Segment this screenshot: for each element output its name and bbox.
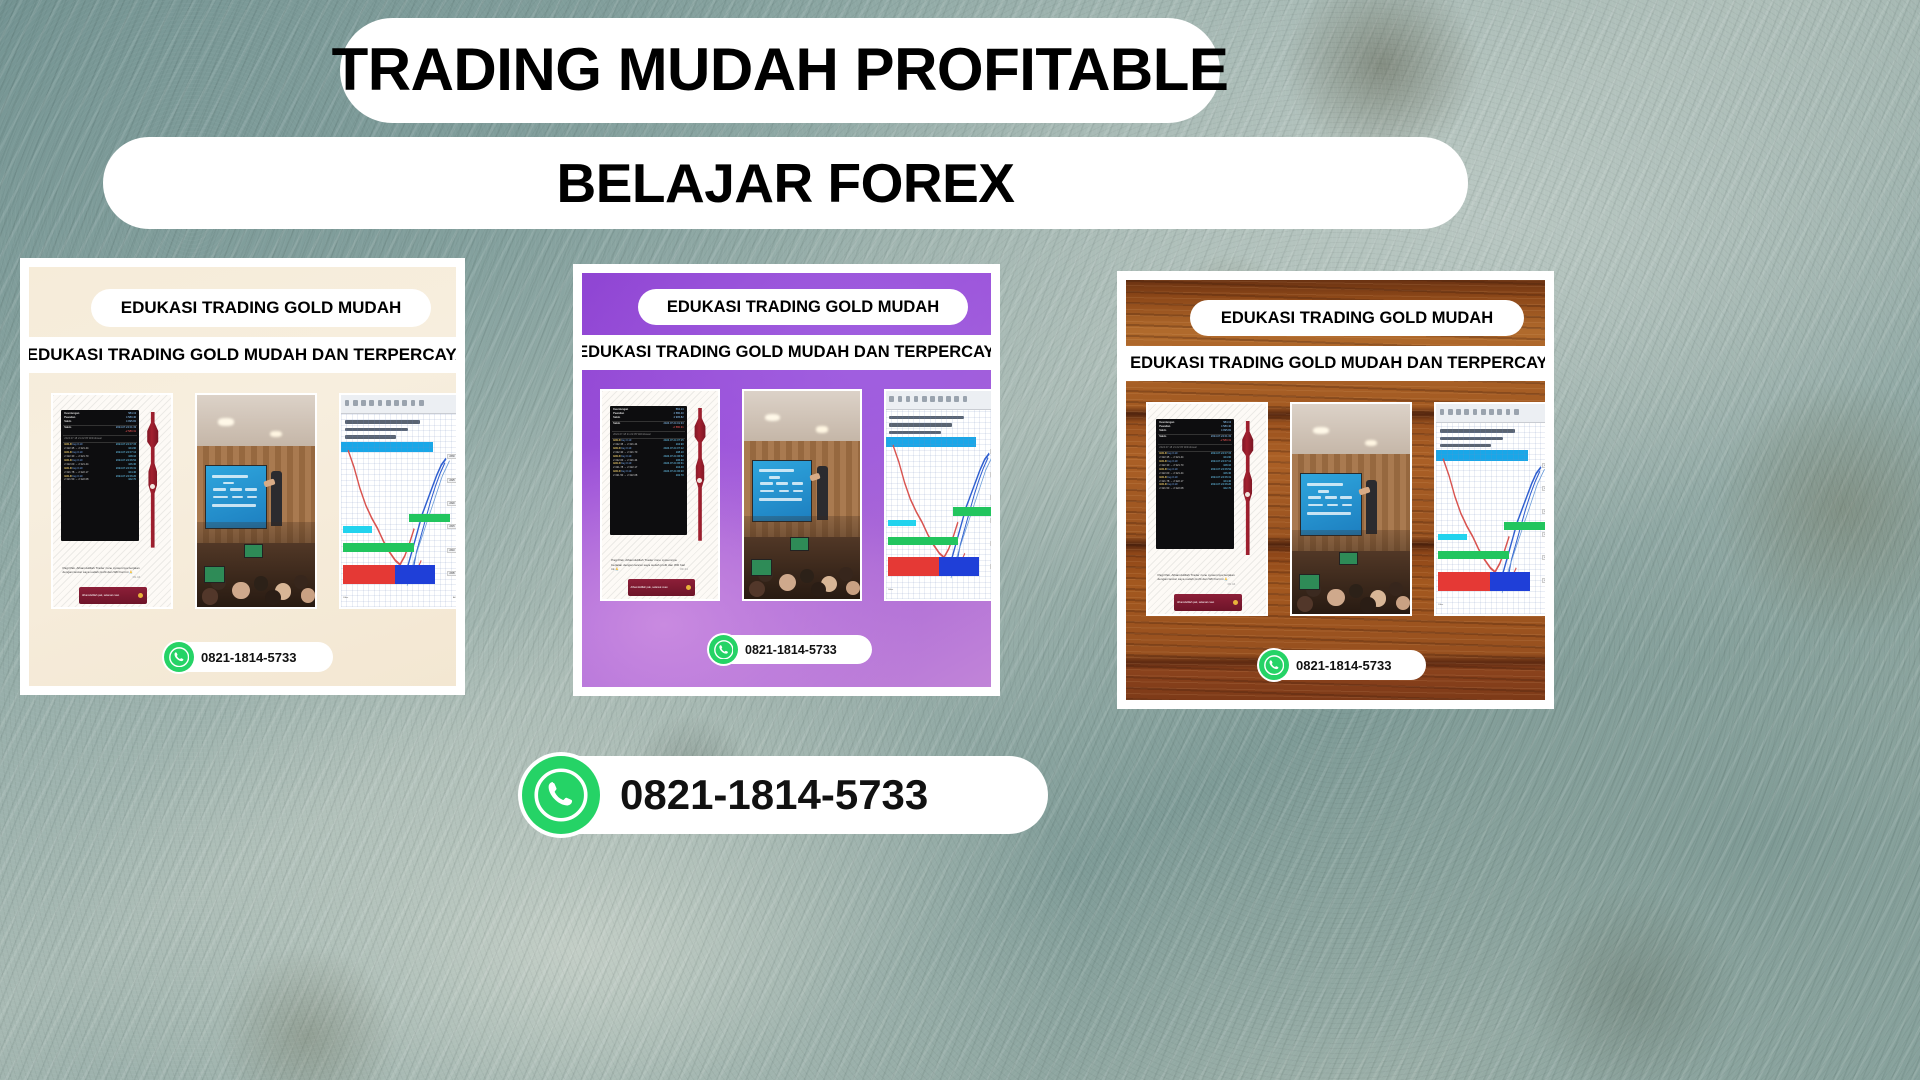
chart-axis-label: 2305 [447, 571, 456, 576]
chart-volume-blue [395, 565, 435, 584]
card-screenshot-strip: Keuntungan584.13Pewalian4 580.40Saldo4 9… [1146, 402, 1545, 616]
terminal-trade-row: GOLD buy 0.102024.07.24 06:522 322.00 → … [63, 459, 137, 467]
chart-axis-label: 2330 [447, 454, 456, 459]
chart-footer-left: Filter [888, 589, 893, 591]
whatsapp-icon [164, 642, 194, 672]
card-screenshot-strip: Keuntungan584.13Pewalian4 580.40Saldo4 9… [51, 393, 456, 609]
chart-axis-label: 2310 [447, 548, 456, 553]
trading-chart-screenshot-frame: 233023252320231523102305FilterAll [339, 393, 456, 609]
mt4-terminal-screenshot: Keuntungan584.13Pewalian4 580.40Saldo4 9… [1148, 404, 1266, 614]
terminal-trade-row: GOLD buy 0.102024.07.24 06:522 322.00 → … [1158, 468, 1232, 476]
card-heading-secondary: EDUKASI TRADING GOLD MUDAH DAN TERPERCAY… [582, 335, 991, 370]
terminal-row-value: 4 995.82 [674, 416, 684, 420]
terminal-row-value: 4 995.82 [126, 420, 136, 424]
chat-bubble: Alhamdulillah pak, selamat cuan [628, 579, 695, 596]
whatsapp-contact-badge[interactable]: 0821-1814-5733 [528, 756, 1048, 834]
card-heading-primary: EDUKASI TRADING GOLD MUDAH [1190, 300, 1524, 336]
ceiling-light-icon [1365, 440, 1377, 446]
chart-volume-red [343, 565, 395, 584]
chat-bubble: Alhamdulillah pak, selamat cuan [79, 587, 147, 604]
card-canvas: EDUKASI TRADING GOLD MUDAHEDUKASI TRADIN… [582, 273, 991, 687]
terminal-trade-row: GOLD buy 0.102024.07.24 06:202 321.50 → … [1158, 483, 1232, 491]
trading-chart-screenshot: 233023252320231523102305FilterAll [1436, 404, 1545, 614]
chart-footer-left: Filter [1438, 604, 1443, 606]
ceiling-light-icon [270, 431, 282, 437]
chart-axis-label: 2330 [1542, 463, 1545, 468]
card-whatsapp-badge[interactable]: 0821-1814-5733 [712, 635, 872, 664]
chart-volume-blue [1490, 572, 1530, 591]
trading-chart-screenshot: 233023252320231523102305FilterAll [341, 395, 456, 607]
chart-volume-red [888, 557, 939, 576]
audience-area [1292, 530, 1410, 614]
whatsapp-phone-number: 0821-1814-5733 [620, 771, 928, 819]
terminal-testimonial-text: Pagi Pak, Alhamdulillah Trader zone syst… [611, 558, 688, 572]
chart-level-marker [888, 537, 958, 545]
terminal-trade-row: GOLD buy 0.102024.07.24 07:122 322.30 → … [612, 447, 685, 455]
headline-primary-banner: TRADING MUDAH PROFITABLE [340, 18, 1220, 123]
terminal-row-label: Saldo [1159, 429, 1166, 433]
chart-level-marker [1438, 534, 1466, 540]
chart-profit-zone [409, 514, 449, 522]
chart-axis-label: 2315 [447, 524, 456, 529]
ceiling-light-icon [1313, 427, 1328, 434]
coin-icon [1233, 600, 1238, 605]
chat-bubble: Alhamdulillah pak, selamat cuan [1174, 594, 1242, 611]
card-phone-number: 0821-1814-5733 [1296, 658, 1391, 673]
terminal-trade-row: GOLD buy 0.102024.07.24 06:202 321.50 → … [63, 475, 137, 483]
chart-axis-label: 2320 [447, 501, 456, 506]
mt4-terminal-screenshot: Keuntungan584.13Pewalian4 580.40Saldo4 9… [602, 391, 718, 599]
card-screenshot-strip: Keuntungan584.13Pewalian4 580.40Saldo4 9… [600, 389, 991, 601]
terminal-panel: Keuntungan584.13Pewalian4 580.40Saldo4 9… [61, 410, 139, 541]
chart-axis-label: 2325 [990, 472, 991, 477]
terminal-trade-row: GOLD buy 0.102024.07.24 07:122 322.30 → … [63, 451, 137, 459]
mt4-terminal-screenshot-frame: Keuntungan584.13Pewalian4 580.40Saldo4 9… [600, 389, 720, 601]
chart-volume-blue [939, 557, 978, 576]
chart-axis-label: 2315 [1542, 532, 1545, 537]
terminal-trade-row: GOLD buy 0.102024.07.24 06:202 321.50 → … [612, 470, 685, 478]
chart-profit-zone [953, 507, 991, 515]
chart-axis-label: 2315 [990, 518, 991, 523]
trading-chart-screenshot-frame: 233023252320231523102305FilterAll [1434, 402, 1545, 616]
terminal-testimonial-text: Pagi Pak, Alhamdulillah Trader zone syst… [62, 566, 140, 580]
ceiling [197, 395, 315, 450]
ceiling-light-icon [765, 414, 780, 421]
terminal-panel: Keuntungan584.13Pewalian4 580.40Saldo4 9… [610, 406, 687, 535]
headline-secondary-banner: BELAJAR FOREX [103, 137, 1468, 229]
promo-card-purple[interactable]: EDUKASI TRADING GOLD MUDAHEDUKASI TRADIN… [573, 264, 1000, 696]
card-phone-number: 0821-1814-5733 [745, 643, 837, 657]
whatsapp-icon [1259, 650, 1289, 680]
coin-icon [686, 585, 691, 590]
whatsapp-icon [522, 756, 600, 834]
terminal-row-value: 4 995.82 [1221, 429, 1231, 433]
projector-screen [1300, 473, 1361, 536]
card-canvas: EDUKASI TRADING GOLD MUDAHEDUKASI TRADIN… [1126, 280, 1545, 700]
chart-axis-label: 2320 [1542, 509, 1545, 514]
terminal-testimonial-text: Pagi Pak, Alhamdulillah Trader zone syst… [1157, 573, 1235, 587]
promo-card-wood[interactable]: EDUKASI TRADING GOLD MUDAHEDUKASI TRADIN… [1117, 271, 1554, 709]
seminar-photo-frame [1290, 402, 1412, 616]
terminal-trade-row: GOLD buy 0.102024.07.24 06:312 321.78 → … [63, 467, 137, 475]
audience-area [197, 522, 315, 607]
chart-volume-red [1438, 572, 1490, 591]
card-whatsapp-badge[interactable]: 0821-1814-5733 [1262, 650, 1426, 680]
ceiling [744, 391, 860, 445]
card-heading-secondary: EDUKASI TRADING GOLD MUDAH DAN TERPERCAY… [29, 337, 456, 373]
mt4-terminal-screenshot: Keuntungan584.13Pewalian4 580.40Saldo4 9… [53, 395, 171, 607]
chart-axis-label: 2320 [990, 495, 991, 500]
chart-level-marker [1438, 551, 1509, 559]
chart-axis-label: 2325 [447, 478, 456, 483]
coin-icon [138, 593, 143, 598]
chart-axis-label: 2330 [990, 449, 991, 454]
chart-footer-left: Filter [343, 597, 348, 599]
card-row: EDUKASI TRADING GOLD MUDAHEDUKASI TRADIN… [0, 258, 1920, 703]
seminar-photo-frame [742, 389, 862, 601]
chart-level-marker [343, 543, 414, 551]
card-heading-secondary: EDUKASI TRADING GOLD MUDAH DAN TERPERCAY… [1126, 346, 1545, 381]
terminal-row-label: Saldo [613, 416, 620, 420]
projector-screen [205, 465, 266, 529]
card-whatsapp-badge[interactable]: 0821-1814-5733 [167, 642, 333, 672]
projector-screen [752, 460, 812, 522]
chart-axis-label: 2310 [990, 541, 991, 546]
chart-axis-label: 2305 [990, 564, 991, 569]
card-heading-primary: EDUKASI TRADING GOLD MUDAH [638, 289, 968, 325]
ceiling-light-icon [816, 426, 828, 432]
seminar-photo [1292, 404, 1410, 614]
headline-primary-text: TRADING MUDAH PROFITABLE [332, 35, 1229, 104]
trading-chart-screenshot: 233023252320231523102305FilterAll [886, 391, 991, 599]
chart-level-marker [888, 520, 916, 526]
seminar-photo [197, 395, 315, 607]
ceiling-light-icon [218, 418, 233, 425]
chart-axis-label: 2305 [1542, 578, 1545, 583]
card-heading-primary: EDUKASI TRADING GOLD MUDAH [91, 289, 431, 327]
terminal-trade-row: GOLD buy 0.102024.07.24 07:152 322.35 → … [1158, 452, 1232, 460]
chart-axis-label: 2310 [1542, 555, 1545, 560]
whatsapp-icon [709, 635, 738, 664]
card-canvas: EDUKASI TRADING GOLD MUDAHEDUKASI TRADIN… [29, 267, 456, 686]
terminal-panel: Keuntungan584.13Pewalian4 580.40Saldo4 9… [1156, 419, 1234, 549]
ceiling [1292, 404, 1410, 459]
chart-footer-right: All [453, 597, 455, 599]
chart-axis-label: 2325 [1542, 486, 1545, 491]
audience-area [744, 516, 860, 599]
card-phone-number: 0821-1814-5733 [201, 650, 296, 665]
chart-level-marker [343, 526, 371, 532]
seminar-photo [744, 391, 860, 599]
seminar-photo-frame [195, 393, 317, 609]
terminal-trade-row: GOLD buy 0.102024.07.24 07:152 322.35 → … [612, 439, 685, 447]
trading-chart-screenshot-frame: 233023252320231523102305FilterAll [884, 389, 991, 601]
terminal-row-label: Saldo [64, 420, 71, 424]
chart-profit-zone [1504, 522, 1544, 530]
mt4-terminal-screenshot-frame: Keuntungan584.13Pewalian4 580.40Saldo4 9… [1146, 402, 1268, 616]
headline-secondary-text: BELAJAR FOREX [557, 151, 1015, 215]
promo-card-cream[interactable]: EDUKASI TRADING GOLD MUDAHEDUKASI TRADIN… [20, 258, 465, 695]
terminal-trade-row: GOLD buy 0.102024.07.24 07:122 322.30 → … [1158, 460, 1232, 468]
mt4-terminal-screenshot-frame: Keuntungan584.13Pewalian4 580.40Saldo4 9… [51, 393, 173, 609]
